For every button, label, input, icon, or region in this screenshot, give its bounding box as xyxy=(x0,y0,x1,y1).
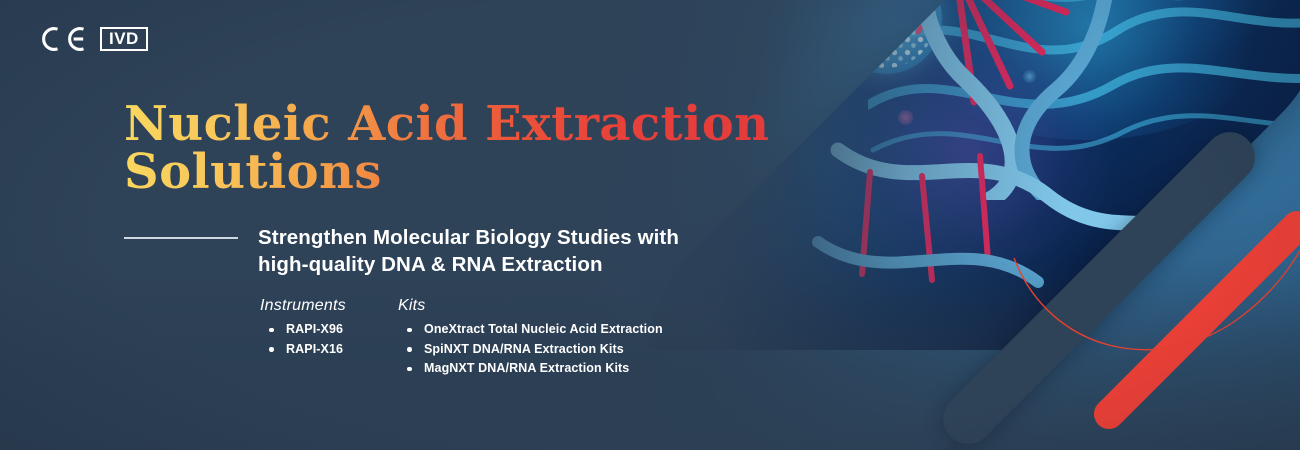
kits-heading: Kits xyxy=(398,296,663,316)
ce-mark-icon xyxy=(40,26,86,52)
kits-column: Kits OneXtract Total Nucleic Acid Extrac… xyxy=(398,296,663,379)
banner-content: Nucleic Acid Extraction Solutions Streng… xyxy=(124,0,884,450)
subtitle: Strengthen Molecular Biology Studies wit… xyxy=(258,224,679,278)
subtitle-rule xyxy=(124,237,238,239)
list-item[interactable]: MagNXT DNA/RNA Extraction Kits xyxy=(398,359,663,379)
nucleic-acid-extraction-banner: IVD Nucleic Acid Extraction Solutions St… xyxy=(0,0,1300,450)
instruments-column: Instruments RAPI-X96 RAPI-X16 xyxy=(260,296,370,359)
list-item[interactable]: RAPI-X16 xyxy=(260,340,370,360)
list-item[interactable]: RAPI-X96 xyxy=(260,320,370,340)
list-item[interactable]: SpiNXT DNA/RNA Extraction Kits xyxy=(398,340,663,360)
instruments-heading: Instruments xyxy=(260,296,370,316)
list-item[interactable]: OneXtract Total Nucleic Acid Extraction xyxy=(398,320,663,340)
page-title: Nucleic Acid Extraction Solutions xyxy=(124,101,769,196)
subtitle-row: Strengthen Molecular Biology Studies wit… xyxy=(124,224,679,278)
product-lists: Instruments RAPI-X96 RAPI-X16 Kits OneXt… xyxy=(260,296,663,379)
instruments-list: RAPI-X96 RAPI-X16 xyxy=(260,320,370,359)
kits-list: OneXtract Total Nucleic Acid Extraction … xyxy=(398,320,663,379)
